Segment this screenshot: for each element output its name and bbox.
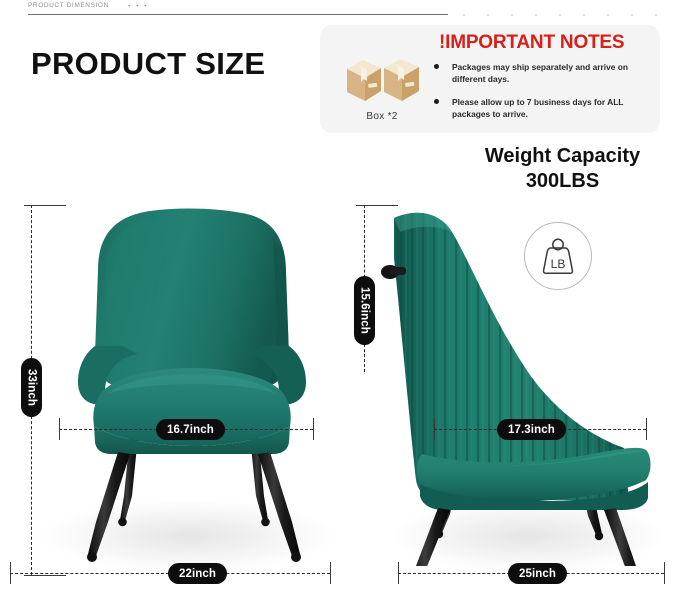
front-seat-width-cap-right <box>313 418 314 440</box>
shipping-boxes-icon <box>344 53 424 109</box>
note-item: Packages may ship separately and arrive … <box>430 61 654 85</box>
important-notes-panel: Box *2 !IMPORTANT NOTES Packages may shi… <box>320 25 660 133</box>
bullet-icon <box>434 64 439 69</box>
side-back-height-label: 15.6inch <box>354 276 375 345</box>
chair-side-view <box>378 196 670 566</box>
topbar: PRODUCT DIMENSION • • • <box>0 0 679 22</box>
bullet-icon <box>434 99 439 104</box>
topbar-divider-dots <box>452 10 667 16</box>
front-height-cap-bottom <box>24 575 66 576</box>
side-overall-depth-label: 25inch <box>508 563 567 584</box>
side-seat-depth-cap-right <box>646 418 647 440</box>
notes-title: !IMPORTANT NOTES <box>439 32 624 54</box>
side-seat-depth-label: 17.3inch <box>497 419 566 440</box>
topbar-dots: • • • <box>128 3 148 10</box>
weight-capacity-line2: 300LBS <box>455 169 670 194</box>
front-overall-width-label: 22inch <box>168 563 227 584</box>
note-text: Packages may ship separately and arrive … <box>452 61 654 85</box>
weight-capacity-title: Weight Capacity 300LBS <box>455 144 670 194</box>
notes-list: Packages may ship separately and arrive … <box>430 61 654 131</box>
side-back-height-cap-top <box>356 205 398 206</box>
front-height-label: 33inch <box>21 358 42 417</box>
chair-front-view <box>46 196 336 566</box>
box-count-label: Box *2 <box>336 111 428 122</box>
side-overall-depth-cap-right <box>664 562 665 584</box>
product-dimension-infographic: PRODUCT DIMENSION • • • PRODUCT SIZE <box>0 0 679 600</box>
front-overall-width-cap-right <box>330 562 331 584</box>
note-text: Please allow up to 7 business days for A… <box>452 96 654 120</box>
note-item: Please allow up to 7 business days for A… <box>430 96 654 120</box>
page-title: PRODUCT SIZE <box>31 46 265 82</box>
front-seat-width-label: 16.7inch <box>156 419 225 440</box>
topbar-divider <box>28 14 448 15</box>
topbar-label: PRODUCT DIMENSION <box>28 2 109 9</box>
weight-capacity-line1: Weight Capacity <box>485 145 640 167</box>
